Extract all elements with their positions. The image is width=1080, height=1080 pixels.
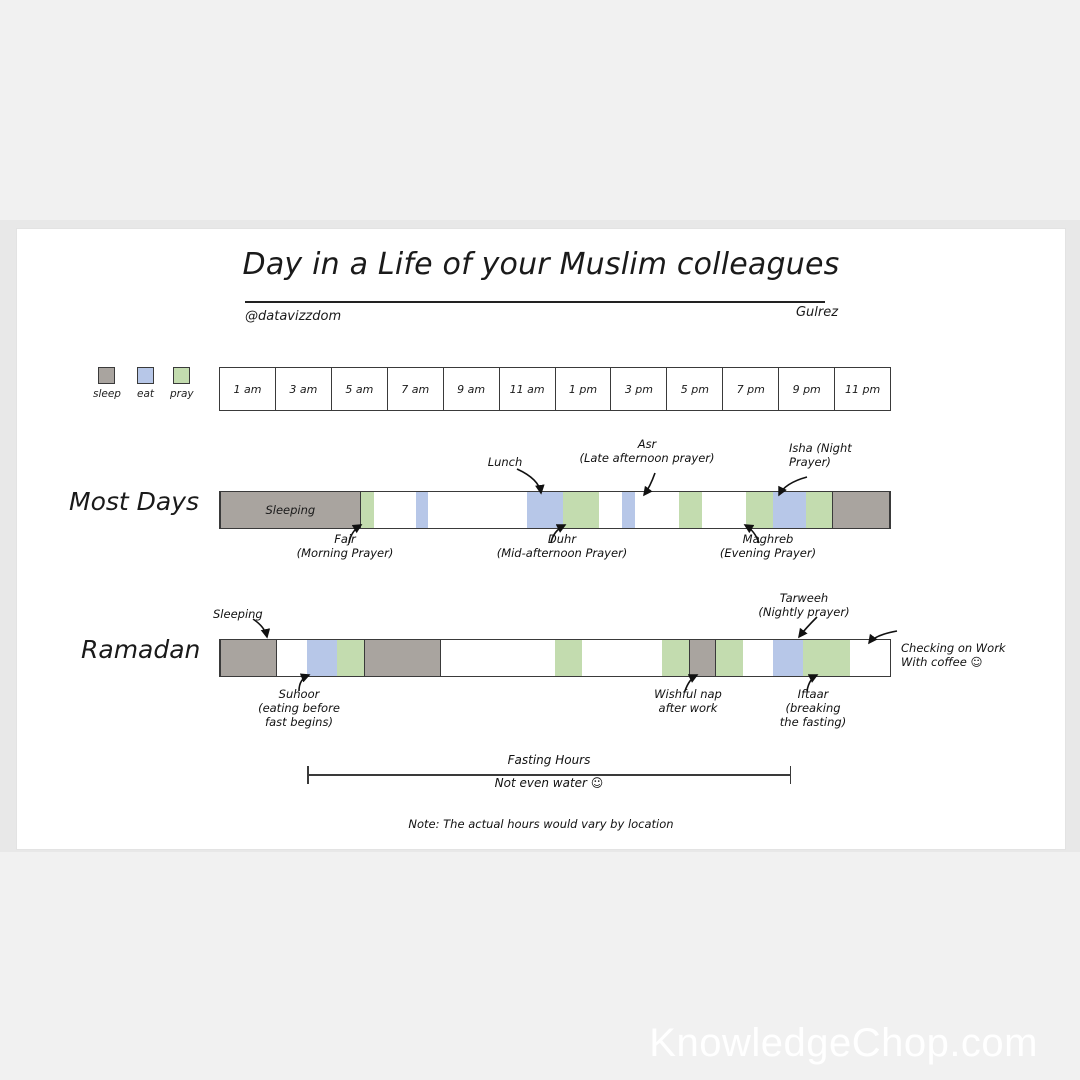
watermark: KnowledgeChop.com (649, 1021, 1038, 1066)
footnote: Note: The actual hours would vary by loc… (17, 817, 1065, 831)
title-underline (245, 301, 825, 303)
axis-tick-7pm: 7 pm (723, 368, 779, 410)
fasting-sublabel: Not even water ☺ (307, 776, 791, 790)
author-handle: @datavizzdom (245, 309, 341, 324)
arrows-ramadan-lower (17, 669, 1065, 729)
legend-item-pray: pray (170, 367, 194, 400)
background-band-top (0, 0, 1080, 220)
axis-tick-1am: 1 am (220, 368, 276, 410)
author-name: Gulrez (757, 305, 877, 320)
axis-tick-5pm: 5 pm (667, 368, 723, 410)
legend-label-sleep: sleep (93, 388, 121, 400)
legend-swatch-sleep (98, 367, 115, 384)
axis-tick-11pm: 11 pm (835, 368, 890, 410)
legend-item-sleep: sleep (93, 367, 121, 400)
axis-tick-1pm: 1 pm (556, 368, 612, 410)
legend-label-eat: eat (137, 388, 154, 400)
legend-label-pray: pray (170, 388, 194, 400)
slide-stage: Day in a Life of your Muslim colleagues … (0, 0, 1080, 1080)
axis-tick-9am: 9 am (444, 368, 500, 410)
axis-tick-7am: 7 am (388, 368, 444, 410)
arrows-most-days-lower (17, 519, 1065, 579)
time-axis: 1 am 3 am 5 am 7 am 9 am 11 am 1 pm 3 pm… (219, 367, 891, 411)
legend: sleep eat pray (93, 367, 194, 400)
axis-tick-3pm: 3 pm (611, 368, 667, 410)
infographic-slide: Day in a Life of your Muslim colleagues … (16, 228, 1066, 850)
axis-tick-3am: 3 am (276, 368, 332, 410)
legend-item-eat: eat (137, 367, 154, 400)
page-title: Day in a Life of your Muslim colleagues (17, 247, 1065, 282)
legend-swatch-eat (137, 367, 154, 384)
axis-tick-5am: 5 am (332, 368, 388, 410)
axis-tick-11am: 11 am (500, 368, 556, 410)
legend-swatch-pray (173, 367, 190, 384)
fasting-hours-label: Fasting Hours (307, 753, 791, 767)
axis-tick-9pm: 9 pm (779, 368, 835, 410)
